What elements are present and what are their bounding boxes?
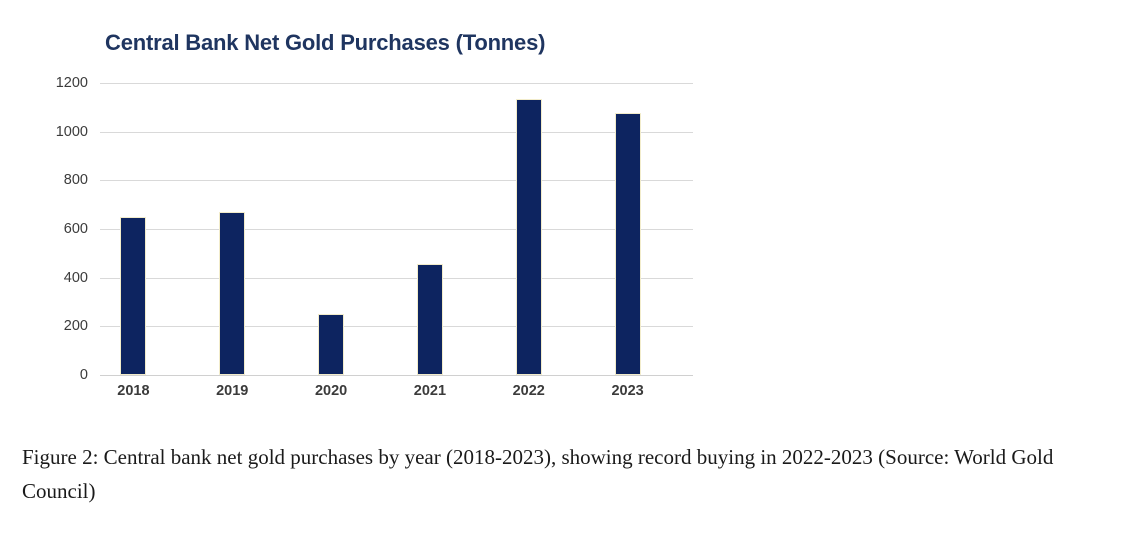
bar-2021[interactable] — [417, 264, 443, 375]
bar-2019[interactable] — [219, 212, 245, 375]
plot-area — [100, 75, 693, 383]
x-tick-label-2020: 2020 — [296, 384, 366, 399]
figure-caption: Figure 2: Central bank net gold purchase… — [22, 440, 1122, 508]
chart-title: Central Bank Net Gold Purchases (Tonnes) — [105, 30, 545, 56]
x-tick-label-2019: 2019 — [197, 384, 267, 399]
x-tick-label-2018: 2018 — [98, 384, 168, 399]
y-tick-label-200: 200 — [26, 319, 88, 334]
y-tick-label-800: 800 — [26, 173, 88, 188]
x-tick-label-2021: 2021 — [395, 384, 465, 399]
bar-series — [100, 75, 693, 375]
figure-block: Central Bank Net Gold Purchases (Tonnes)… — [0, 0, 1146, 420]
y-axis-tick-labels: 020040060080010001200 — [22, 75, 88, 383]
y-tick-label-600: 600 — [26, 222, 88, 237]
x-tick-label-2022: 2022 — [494, 384, 564, 399]
x-tick-label-2023: 2023 — [593, 384, 663, 399]
y-tick-label-1000: 1000 — [26, 125, 88, 140]
gridline-0 — [100, 375, 693, 376]
y-tick-label-0: 0 — [26, 368, 88, 383]
y-tick-label-1200: 1200 — [26, 76, 88, 91]
bar-2018[interactable] — [120, 217, 146, 375]
bar-2022[interactable] — [516, 99, 542, 375]
bar-2020[interactable] — [318, 314, 344, 375]
bar-2023[interactable] — [615, 113, 641, 375]
y-tick-label-400: 400 — [26, 271, 88, 286]
